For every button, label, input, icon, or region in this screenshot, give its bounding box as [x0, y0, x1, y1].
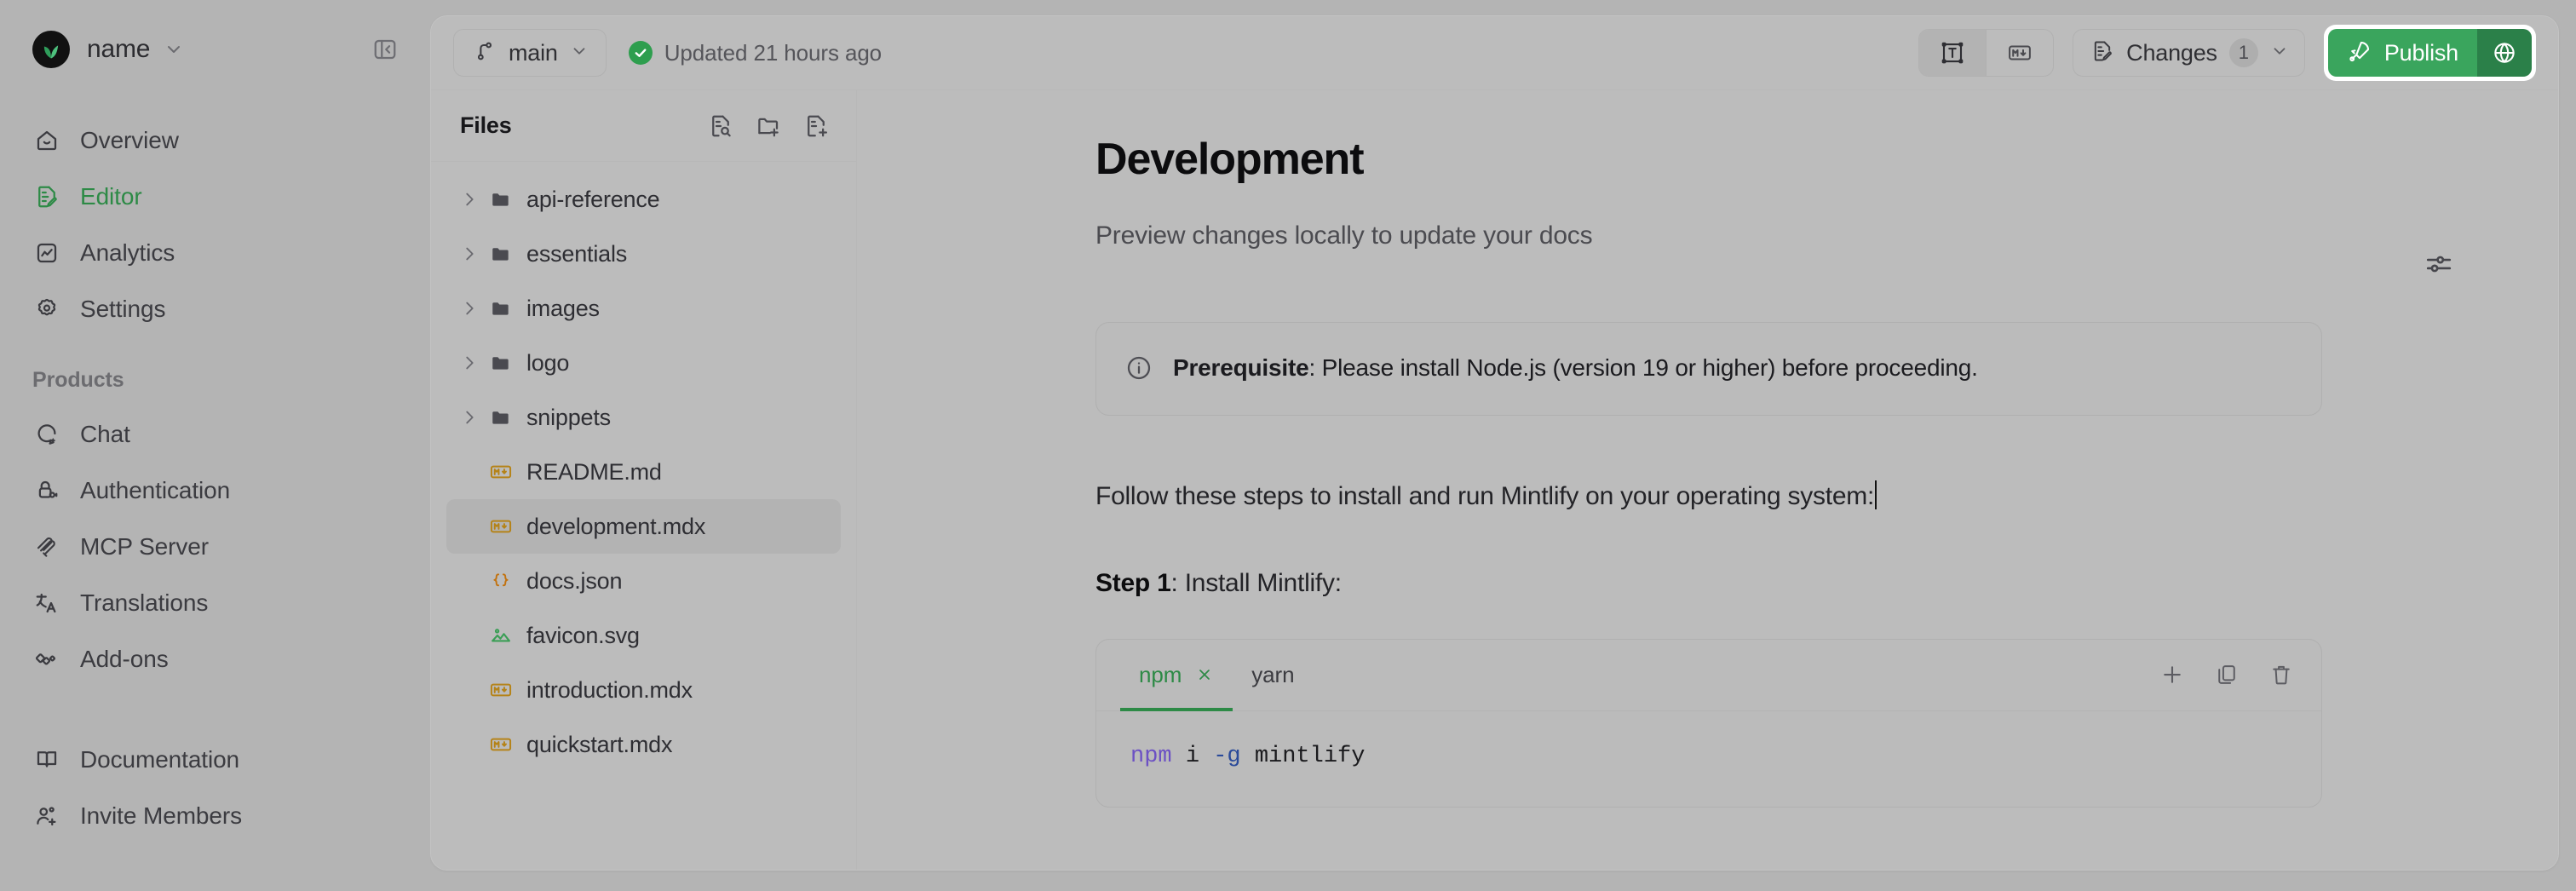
step-bold: Step 1 — [1095, 569, 1171, 597]
org-switcher[interactable]: name — [0, 15, 430, 83]
trash-icon[interactable] — [2267, 660, 2296, 689]
code-block-actions — [2158, 640, 2321, 710]
markdown-file-icon — [484, 678, 518, 702]
publish-button[interactable]: Publish — [2328, 29, 2477, 77]
sidebar-item-authentication[interactable]: Authentication — [0, 463, 430, 519]
code-block: npm yarn — [1095, 639, 2322, 808]
sync-status-text: Updated 21 hours ago — [664, 40, 882, 66]
chevron-right-icon[interactable] — [455, 408, 484, 427]
tree-row-snippets[interactable]: snippets — [446, 390, 841, 445]
nav-spacer — [0, 687, 430, 732]
mcp-layers-icon — [32, 532, 61, 561]
sidebar-item-label: Overview — [80, 127, 179, 154]
rocket-icon — [2347, 38, 2372, 68]
tree-item-label: README.md — [526, 459, 662, 486]
sidebar-item-editor[interactable]: Editor — [0, 169, 430, 225]
info-callout: Prerequisite: Please install Node.js (ve… — [1095, 322, 2322, 416]
tree-item-label: images — [526, 296, 600, 322]
code-token-package: mintlify — [1255, 744, 1366, 769]
info-circle-icon — [1125, 354, 1153, 386]
sidebar-item-overview[interactable]: Overview — [0, 112, 430, 169]
chat-sparkle-icon — [32, 420, 61, 449]
lock-user-icon — [32, 476, 61, 505]
branch-selector[interactable]: main — [453, 29, 607, 77]
plus-icon[interactable] — [2158, 660, 2187, 689]
book-icon — [32, 745, 61, 774]
chevron-down-icon — [2270, 42, 2289, 65]
sidebar-item-documentation[interactable]: Documentation — [0, 732, 430, 788]
top-toolbar: main Updated 21 hours ago — [431, 16, 2558, 89]
translate-icon — [32, 589, 61, 618]
code-tab-yarn[interactable]: yarn — [1233, 640, 1313, 710]
document-content: Development Preview changes locally to u… — [1095, 135, 2322, 808]
tree-row-api-reference[interactable]: api-reference — [446, 172, 841, 227]
org-name: name — [87, 35, 150, 64]
left-sidebar: name Overview — [0, 0, 430, 891]
sidebar-item-label: Authentication — [80, 477, 230, 504]
files-panel-title: Files — [460, 112, 512, 139]
tree-item-label: snippets — [526, 405, 611, 431]
sidebar-item-label: Documentation — [80, 746, 239, 773]
markdown-icon[interactable] — [1987, 30, 2053, 76]
toolbar-right-group: Changes 1 — [1918, 25, 2536, 81]
tree-item-label: development.mdx — [526, 514, 705, 540]
sidebar-item-label: Translations — [80, 589, 208, 617]
panel-collapse-left-icon[interactable] — [369, 33, 401, 66]
changes-label: Changes — [2126, 40, 2217, 66]
callout-rest: : Please install Node.js (version 19 or … — [1308, 354, 1977, 381]
code-content[interactable]: npm i -g mintlify — [1096, 711, 2321, 807]
sidebar-item-translations[interactable]: Translations — [0, 575, 430, 631]
folder-icon — [484, 352, 518, 374]
nav-section-products: Products — [0, 368, 430, 393]
home-icon — [32, 126, 61, 155]
tree-item-label: favicon.svg — [526, 623, 640, 649]
file-tree: api-reference essentials — [431, 162, 856, 772]
text-caret — [1875, 480, 1877, 509]
files-panel-actions — [704, 110, 832, 142]
step-1-line[interactable]: Step 1: Install Mintlify: — [1095, 569, 2322, 598]
file-pen-icon — [32, 182, 61, 211]
sidebar-item-label: Analytics — [80, 239, 175, 267]
code-tab-label: npm — [1139, 662, 1182, 688]
tree-item-label: essentials — [526, 241, 627, 267]
publish-group: Publish — [2324, 25, 2536, 81]
sidebar-item-label: Add-ons — [80, 646, 169, 673]
check-circle-icon — [629, 41, 653, 65]
changes-button[interactable]: Changes 1 — [2073, 29, 2305, 77]
chevron-right-icon[interactable] — [455, 299, 484, 318]
intro-paragraph-text: Follow these steps to install and run Mi… — [1095, 482, 1874, 510]
sidebar-item-invite-members[interactable]: Invite Members — [0, 788, 430, 844]
markdown-file-icon — [484, 460, 518, 484]
chevron-right-icon[interactable] — [455, 354, 484, 372]
tree-item-label: introduction.mdx — [526, 677, 693, 704]
chevron-down-icon — [570, 42, 589, 65]
folder-icon — [484, 406, 518, 428]
callout-text: Prerequisite: Please install Node.js (ve… — [1173, 352, 1978, 384]
sidebar-item-label: Editor — [80, 183, 142, 210]
tree-row-introduction-mdx[interactable]: introduction.mdx — [446, 663, 841, 717]
code-tab-npm[interactable]: npm — [1120, 640, 1233, 710]
close-icon[interactable] — [1195, 665, 1214, 684]
code-tab-bar: npm yarn — [1096, 640, 2321, 711]
tree-row-favicon-svg[interactable]: favicon.svg — [446, 608, 841, 663]
card-body: Files — [431, 89, 2558, 870]
sidebar-item-label: MCP Server — [80, 533, 209, 560]
step-rest: : Install Mintlify: — [1171, 569, 1342, 597]
sidebar-item-label: Chat — [80, 421, 130, 448]
folder-plus-icon[interactable] — [752, 110, 785, 142]
globe-icon[interactable] — [2477, 29, 2532, 77]
image-file-icon — [484, 624, 518, 647]
sidebar-item-analytics[interactable]: Analytics — [0, 225, 430, 281]
file-plus-icon[interactable] — [800, 110, 832, 142]
sidebar-item-chat[interactable]: Chat — [0, 406, 430, 463]
tree-row-logo[interactable]: logo — [446, 336, 841, 390]
gear-icon — [32, 295, 61, 324]
sidebar-item-add-ons[interactable]: Add-ons — [0, 631, 430, 687]
tree-item-label: docs.json — [526, 568, 622, 595]
page-subtitle: Preview changes locally to update your d… — [1095, 218, 2322, 254]
tree-item-label: logo — [526, 350, 569, 377]
json-file-icon — [484, 569, 518, 593]
markdown-file-icon — [484, 733, 518, 756]
files-panel: Files — [431, 90, 857, 870]
tree-row-development-mdx[interactable]: development.mdx — [446, 499, 841, 554]
tree-row-essentials[interactable]: essentials — [446, 227, 841, 281]
sidebar-item-label: Invite Members — [80, 802, 242, 830]
chevron-right-icon[interactable] — [455, 244, 484, 263]
chevron-down-icon — [164, 39, 184, 60]
sync-status: Updated 21 hours ago — [629, 40, 882, 66]
page-title: Development — [1095, 135, 2322, 186]
file-pen-icon — [2090, 39, 2114, 67]
changes-count-badge: 1 — [2229, 38, 2258, 67]
sidebar-item-label: Settings — [80, 296, 165, 323]
code-token-command: npm — [1130, 744, 1172, 769]
publish-label: Publish — [2384, 40, 2458, 66]
user-plus-icon — [32, 802, 61, 831]
code-token-subcommand: i — [1186, 744, 1199, 769]
chevron-right-icon[interactable] — [455, 190, 484, 209]
tree-item-label: quickstart.mdx — [526, 732, 672, 758]
tree-row-readme-md[interactable]: README.md — [446, 445, 841, 499]
file-search-icon[interactable] — [704, 110, 737, 142]
code-tab-label: yarn — [1251, 662, 1294, 688]
tree-row-quickstart-mdx[interactable]: quickstart.mdx — [446, 717, 841, 772]
tree-item-label: api-reference — [526, 187, 660, 213]
tree-row-images[interactable]: images — [446, 281, 841, 336]
addons-diamond-icon — [32, 645, 61, 674]
sidebar-item-settings[interactable]: Settings — [0, 281, 430, 337]
code-token-flag: -g — [1213, 744, 1240, 769]
sidebar-item-mcp-server[interactable]: MCP Server — [0, 519, 430, 575]
callout-bold: Prerequisite — [1173, 354, 1308, 381]
folder-icon — [484, 188, 518, 210]
document-scroll-area: Development Preview changes locally to u… — [857, 90, 2558, 870]
folder-icon — [484, 297, 518, 319]
main-card: main Updated 21 hours ago — [430, 15, 2559, 871]
git-branch-icon — [473, 39, 497, 67]
document-editor-panel: Development Preview changes locally to u… — [857, 90, 2558, 870]
intro-paragraph[interactable]: Follow these steps to install and run Mi… — [1095, 479, 1877, 514]
primary-nav: Overview Editor Analytics — [0, 112, 430, 844]
editor-mode-toggle — [1918, 29, 2054, 77]
branch-name: main — [509, 40, 558, 66]
code-line: npm i -g mintlify — [1130, 744, 2287, 769]
tree-row-docs-json[interactable]: docs.json — [446, 554, 841, 608]
folder-icon — [484, 243, 518, 265]
files-panel-header: Files — [431, 90, 856, 162]
markdown-file-icon — [484, 514, 518, 538]
mint-leaf-logo — [32, 31, 70, 68]
chart-box-icon — [32, 239, 61, 267]
app-root: name Overview — [0, 0, 2576, 891]
copy-icon[interactable] — [2212, 660, 2241, 689]
visual-editor-icon[interactable] — [1919, 30, 1986, 76]
